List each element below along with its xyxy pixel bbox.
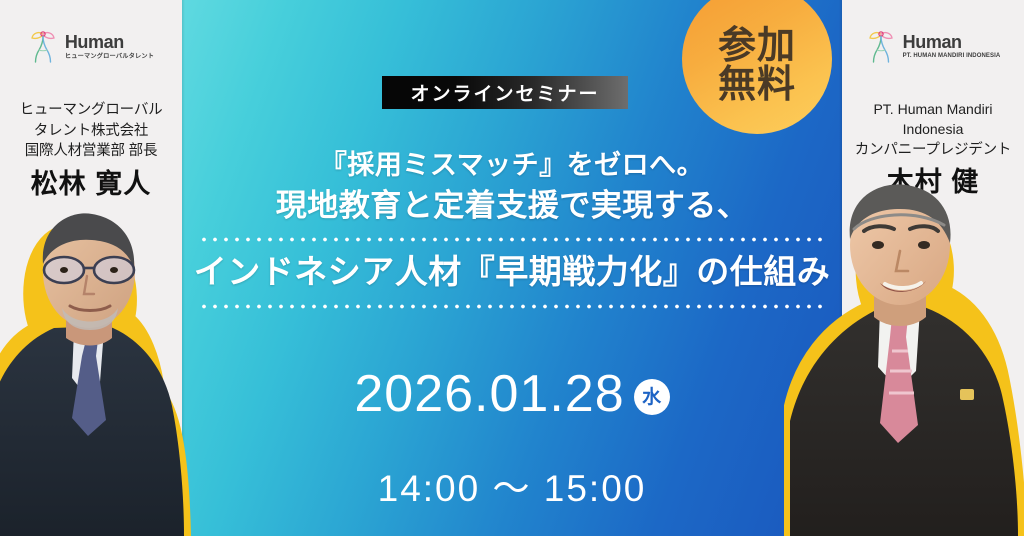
right-logo-word: Human <box>903 33 1001 51</box>
right-logo-subtitle: PT. HUMAN MANDIRI INDONESIA <box>903 53 1001 60</box>
right-speaker-org-line-2: Indonesia <box>846 120 1020 140</box>
human-figure-logo-icon <box>866 30 896 64</box>
left-logo-subtitle: ヒューマングローバルタレント <box>65 53 154 60</box>
seminar-title: 『採用ミスマッチ』をゼロへ。 現地教育と定着支援で実現する、 インドネシア人材『… <box>182 148 842 318</box>
left-speaker-name: 松林 寛人 <box>4 170 178 200</box>
left-eye-left <box>60 267 68 273</box>
left-speaker-org-line-1: ヒューマングローバル <box>4 100 178 121</box>
left-logo-word: Human <box>65 33 154 51</box>
free-badge-line-2: 無料 <box>718 66 796 105</box>
day-of-week-label: 水 <box>642 388 661 407</box>
right-eye-right <box>918 241 930 249</box>
right-company-logo: Human PT. HUMAN MANDIRI INDONESIA <box>842 30 1024 64</box>
event-date: 2026.01.28 <box>354 368 624 420</box>
free-badge-line-1: 参加 <box>718 27 796 66</box>
right-eye-left <box>872 241 884 249</box>
day-of-week-badge: 水 <box>634 379 670 415</box>
right-lapel-pin <box>960 389 974 400</box>
right-speaker-org-line-3: カンパニープレジデント <box>846 140 1020 161</box>
dotted-divider-top <box>196 237 828 242</box>
left-speaker-photo <box>0 206 218 536</box>
title-line-1: 『採用ミスマッチ』をゼロへ。 <box>182 148 842 183</box>
banner-stage: オンラインセミナー 『採用ミスマッチ』をゼロへ。 現地教育と定着支援で実現する、… <box>182 0 842 536</box>
human-figure-logo-icon <box>28 30 58 64</box>
left-company-logo: Human ヒューマングローバルタレント <box>0 30 182 64</box>
event-date-row: 2026.01.28 水 <box>182 368 842 420</box>
left-eye-right <box>110 267 118 273</box>
right-speaker-photo <box>784 181 1024 536</box>
seminar-banner: オンラインセミナー 『採用ミスマッチ』をゼロへ。 現地教育と定着支援で実現する、… <box>0 0 1024 536</box>
left-speaker-org-line-2: タレント株式会社 <box>4 121 178 142</box>
online-seminar-tag: オンラインセミナー <box>382 76 628 109</box>
title-line-3: インドネシア人材『早期戦力化』の仕組み <box>182 251 842 294</box>
right-speaker-portrait-illustration <box>784 181 1024 536</box>
left-speaker-meta: ヒューマングローバル タレント株式会社 国際人材営業部 部長 松林 寛人 <box>0 100 182 199</box>
free-participation-badge: 参加 無料 <box>682 0 832 134</box>
right-logo-text: Human PT. HUMAN MANDIRI INDONESIA <box>903 33 1001 60</box>
dotted-divider-bottom <box>196 304 828 309</box>
title-line-2: 現地教育と定着支援で実現する、 <box>182 185 842 227</box>
left-speaker-org-line-3: 国際人材営業部 部長 <box>4 141 178 162</box>
event-time: 14:00 ～ 15:00 <box>182 458 842 512</box>
online-seminar-tag-label: オンラインセミナー <box>410 79 599 106</box>
left-speaker-portrait-illustration <box>0 206 218 536</box>
right-speaker-org-line-1: PT. Human Mandiri <box>846 100 1020 120</box>
left-logo-text: Human ヒューマングローバルタレント <box>65 33 154 60</box>
